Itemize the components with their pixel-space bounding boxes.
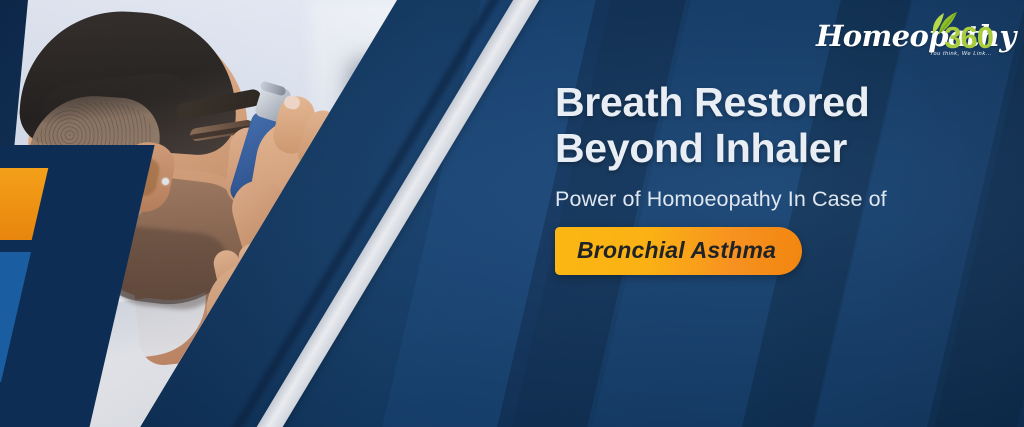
status-badge: Bronchial Asthma xyxy=(555,227,802,275)
brand-logo[interactable]: Homeopathy 360 You think, We Link... xyxy=(816,10,994,64)
decorative-wedges xyxy=(0,0,150,427)
promo-banner: Homeopathy 360 You think, We Link... Bre… xyxy=(0,0,1024,427)
page-title: Breath Restored Beyond Inhaler xyxy=(555,80,1010,172)
subheadline: Power of Homoeopathy In Case of xyxy=(555,187,1010,212)
headline-line-2: Beyond Inhaler xyxy=(555,126,1010,172)
banner-content: Breath Restored Beyond Inhaler Power of … xyxy=(555,80,1010,275)
headline-line-1: Breath Restored xyxy=(555,79,869,125)
logo-tagline: You think, We Link... xyxy=(930,51,992,57)
